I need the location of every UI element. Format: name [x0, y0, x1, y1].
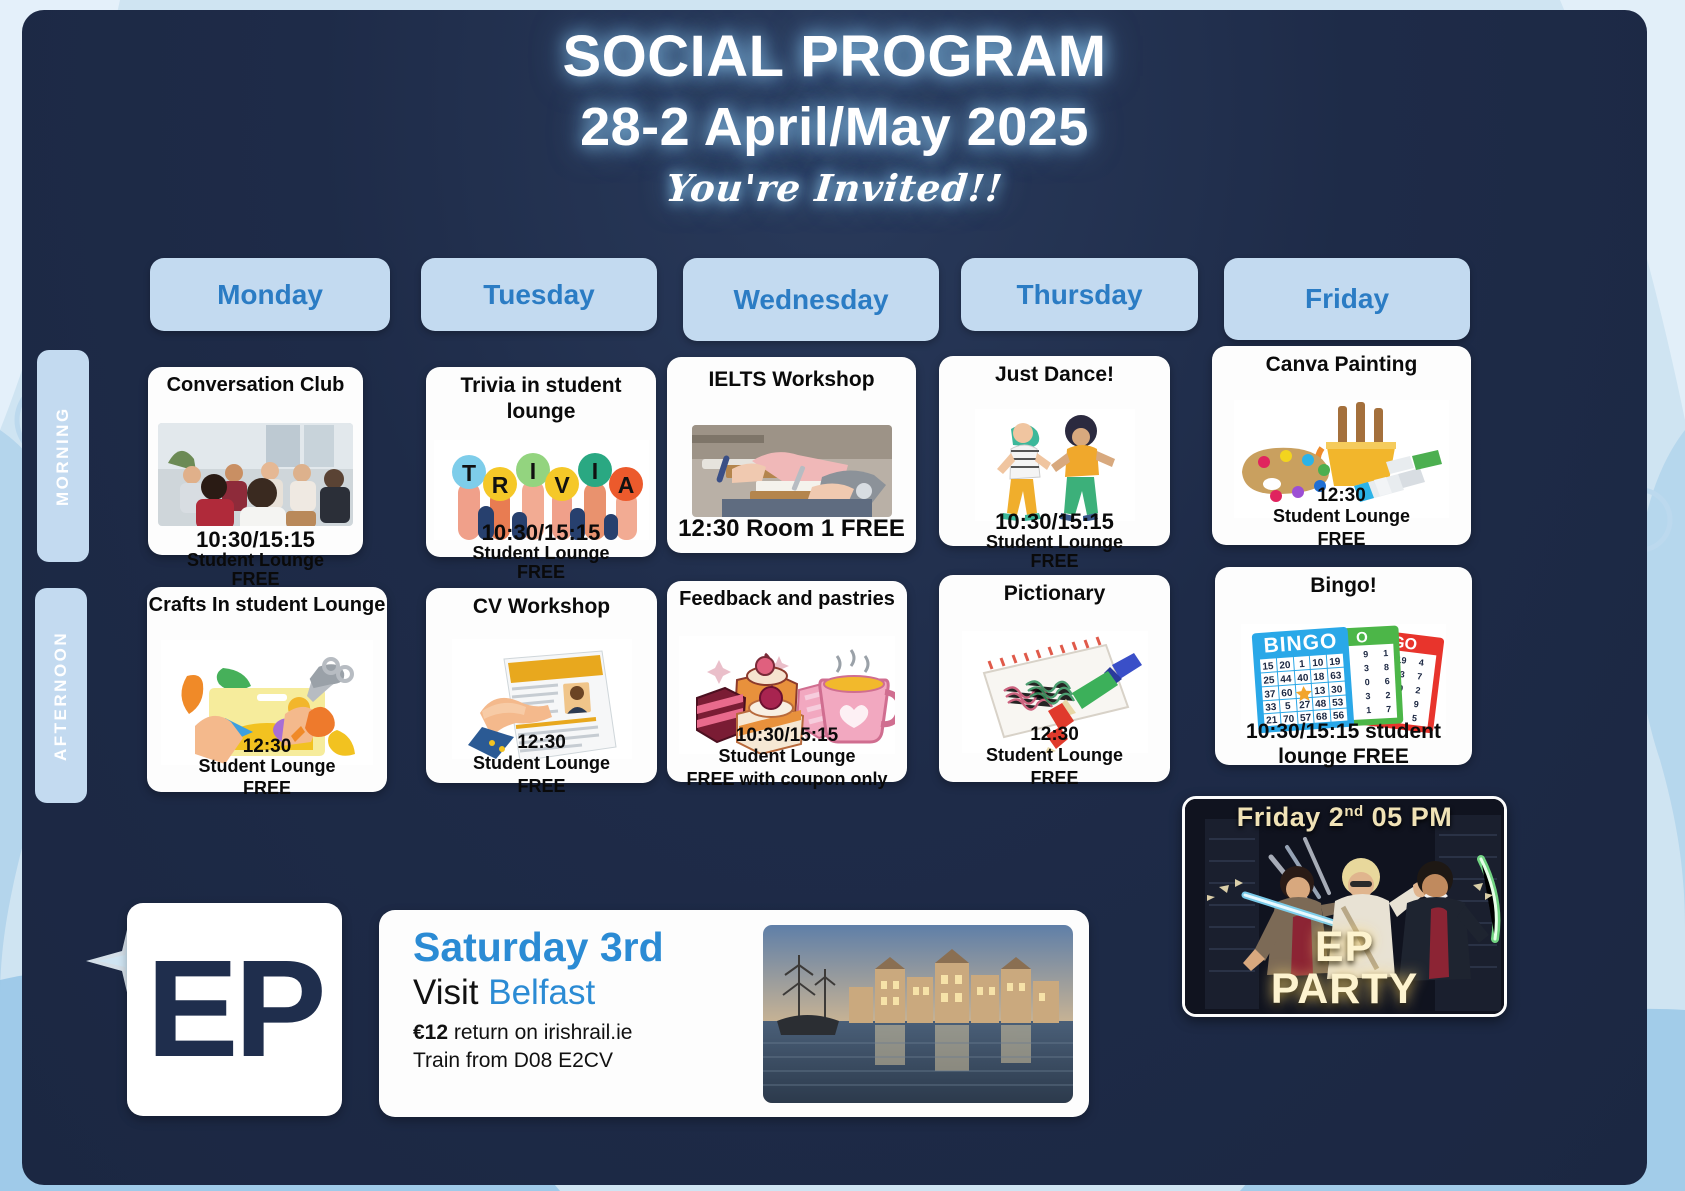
svg-text:1: 1: [1366, 705, 1372, 715]
activity-price: FREE: [148, 570, 363, 588]
svg-text:6: 6: [1384, 676, 1390, 686]
activity-time: 10:30/15:15 student lounge FREE: [1223, 720, 1464, 770]
svg-text:T: T: [461, 460, 475, 486]
activity-price: FREE with coupon only: [667, 768, 907, 791]
date-range: 28-2 April/May 2025: [22, 91, 1647, 164]
activity-location: Student Lounge: [939, 533, 1170, 551]
activity-title: Conversation Club: [167, 373, 345, 397]
svg-text:48: 48: [1315, 698, 1327, 710]
photo-students-writing-icon: [692, 425, 892, 517]
activity-card-friday-afternoon[interactable]: Bingo! GO 10194 18637 13302 48539 68565: [1215, 567, 1472, 765]
activity-price: FREE: [1212, 528, 1471, 551]
activity-location: Student Lounge: [426, 544, 656, 562]
activity-details: 10:30/15:15 Student Lounge FREE: [148, 529, 363, 588]
activity-title: CV Workshop: [473, 594, 610, 620]
svg-text:I: I: [529, 458, 535, 484]
activity-details: 10:30/15:15 Student Lounge FREE: [426, 522, 656, 581]
activity-card-friday-morning[interactable]: Canva Painting: [1212, 346, 1471, 545]
invitation-text: You're Invited!!: [22, 166, 1647, 210]
svg-text:27: 27: [1299, 699, 1311, 711]
activity-card-thursday-morning[interactable]: Just Dance!: [939, 356, 1170, 546]
poster-header: SOCIAL PROGRAM 28-2 April/May 2025 You'r…: [22, 10, 1647, 210]
activity-details: 10:30/15:15 Student Lounge FREE with cou…: [667, 726, 907, 790]
svg-text:O: O: [1356, 629, 1369, 647]
svg-text:A: A: [617, 472, 634, 498]
activity-card-monday-morning[interactable]: Conversation Club 10:30/15:15 Student Lo…: [148, 367, 363, 555]
svg-text:15: 15: [1262, 661, 1274, 673]
activity-details: 12:30 Student Lounge FREE: [1212, 486, 1471, 550]
day-label: Thursday: [1016, 279, 1142, 311]
activity-details: 12:30 Student Lounge FREE: [147, 737, 387, 800]
saturday-destination: Visit Belfast: [413, 971, 763, 1015]
svg-text:19: 19: [1329, 656, 1341, 668]
activity-details: 12:30 Student Lounge FREE: [426, 733, 657, 797]
section-label-morning: MORNING: [37, 350, 89, 562]
section-label-text: MORNING: [53, 406, 73, 506]
svg-text:63: 63: [1330, 670, 1342, 682]
ep-logo-text: EP: [146, 954, 322, 1064]
svg-text:30: 30: [1331, 684, 1343, 696]
svg-text:9: 9: [1363, 649, 1369, 659]
activity-price: FREE: [147, 778, 387, 800]
activity-price: FREE: [426, 775, 657, 798]
activity-details: 10:30/15:15 student lounge FREE: [1215, 720, 1472, 770]
svg-text:33: 33: [1265, 702, 1277, 714]
party-time: 05 PM: [1364, 802, 1453, 832]
activity-details: 12:30 Student Lounge FREE: [939, 725, 1170, 789]
bingo-cards-icon: GO 10194 18637 13302 48539 68565 O 1991: [1241, 624, 1446, 736]
price-detail: return on irishrail.ie: [448, 1021, 632, 1044]
page-title: SOCIAL PROGRAM: [22, 24, 1647, 91]
svg-text:20: 20: [1279, 660, 1291, 672]
poster-panel: SOCIAL PROGRAM 28-2 April/May 2025 You'r…: [22, 10, 1647, 1185]
svg-text:8: 8: [1384, 662, 1390, 672]
activity-location: Student Lounge: [147, 756, 387, 778]
activity-card-tuesday-afternoon[interactable]: CV Workshop: [426, 588, 657, 783]
ep-party-title: EP PARTY: [1185, 927, 1504, 1010]
saturday-trip-text: Saturday 3rd Visit Belfast €12 return on…: [395, 924, 763, 1103]
activity-price: FREE: [939, 767, 1170, 790]
svg-text:60: 60: [1281, 688, 1293, 700]
visit-prefix: Visit: [413, 973, 488, 1012]
party-title-line1: EP: [1185, 927, 1504, 968]
activity-time: 10:30/15:15: [667, 726, 907, 745]
svg-text:V: V: [554, 472, 570, 498]
ep-logo-tile: EP: [127, 903, 342, 1116]
activity-location: Student Lounge: [1212, 505, 1471, 528]
city-name: Belfast: [488, 973, 595, 1012]
activity-title: Trivia in student lounge: [430, 373, 652, 424]
day-label: Wednesday: [733, 284, 888, 316]
day-header-thursday[interactable]: Thursday: [961, 258, 1198, 331]
svg-text:3: 3: [1365, 691, 1371, 701]
price-amount: €12: [413, 1021, 448, 1044]
ep-party-datetime: Friday 2nd 05 PM: [1185, 802, 1504, 833]
saturday-price: €12 return on irishrail.ie: [413, 1019, 763, 1047]
activity-time: 12:30: [1212, 486, 1471, 505]
svg-text:53: 53: [1332, 697, 1344, 709]
activity-title: Canva Painting: [1266, 352, 1418, 378]
activity-time: 12:30 Room 1 FREE: [667, 517, 916, 541]
activity-card-wednesday-afternoon[interactable]: Feedback and pastries: [667, 581, 907, 782]
day-header-row: Monday Tuesday Wednesday Thursday Friday: [150, 258, 1480, 340]
activity-title: Pictionary: [1004, 581, 1106, 607]
svg-text:I: I: [591, 458, 597, 484]
belfast-photo: [763, 925, 1073, 1103]
activity-card-thursday-afternoon[interactable]: Pictionary: [939, 575, 1170, 782]
activity-title: IELTS Workshop: [708, 367, 874, 393]
activity-location: Student Lounge: [939, 744, 1170, 767]
svg-text:2: 2: [1385, 690, 1391, 700]
photo-discussion-circle-icon: [158, 423, 353, 526]
activity-details: 10:30/15:15 Student Lounge FREE: [939, 511, 1170, 570]
activity-time: 12:30: [426, 733, 657, 752]
dancing-figures-icon: [975, 409, 1135, 521]
svg-text:10: 10: [1312, 657, 1324, 669]
saturday-trip-banner[interactable]: Saturday 3rd Visit Belfast €12 return on…: [379, 910, 1089, 1117]
party-day: Friday 2: [1237, 802, 1345, 832]
svg-text:R: R: [491, 472, 508, 498]
activity-title: Crafts In student Lounge: [149, 593, 386, 617]
activity-location: Student Lounge: [667, 745, 907, 768]
activity-location: Student Lounge: [426, 752, 657, 775]
activity-time: 10:30/15:15: [426, 522, 656, 544]
day-label: Friday: [1305, 283, 1389, 315]
svg-text:44: 44: [1280, 674, 1292, 686]
activity-time: 12:30: [147, 737, 387, 756]
activity-time: 10:30/15:15: [939, 511, 1170, 533]
svg-text:40: 40: [1297, 672, 1309, 684]
activity-title: Just Dance!: [995, 362, 1114, 388]
day-header-tuesday[interactable]: Tuesday: [421, 258, 657, 331]
ep-party-poster[interactable]: Friday 2nd 05 PM EP PARTY: [1182, 796, 1507, 1017]
activity-location: Student Lounge: [148, 551, 363, 569]
day-header-monday[interactable]: Monday: [150, 258, 390, 331]
day-header-friday[interactable]: Friday: [1224, 258, 1470, 340]
section-label-text: AFTERNOON: [51, 630, 71, 760]
activity-title: Bingo!: [1310, 573, 1376, 599]
section-label-afternoon: AFTERNOON: [35, 588, 87, 803]
activity-time: 10:30/15:15: [148, 529, 363, 551]
saturday-train-info: Train from D08 E2CV: [413, 1047, 763, 1075]
day-header-wednesday[interactable]: Wednesday: [683, 258, 939, 341]
activity-card-tuesday-morning[interactable]: Trivia in student lounge T: [426, 367, 656, 557]
activity-details: 12:30 Room 1 FREE: [667, 517, 916, 541]
svg-text:25: 25: [1263, 675, 1275, 687]
day-label: Tuesday: [483, 279, 595, 311]
svg-text:1: 1: [1383, 648, 1389, 658]
day-label: Monday: [217, 279, 323, 311]
activity-price: FREE: [426, 563, 656, 581]
activity-title: Feedback and pastries: [679, 587, 895, 611]
belfast-waterfront-icon: [763, 925, 1073, 1103]
party-title-line2: PARTY: [1185, 969, 1504, 1010]
activity-card-monday-afternoon[interactable]: Crafts In student Lounge: [147, 587, 387, 792]
svg-text:18: 18: [1313, 671, 1325, 683]
svg-text:37: 37: [1264, 689, 1276, 701]
activity-price: FREE: [939, 552, 1170, 570]
party-ordinal: nd: [1344, 803, 1363, 820]
svg-text:7: 7: [1386, 704, 1392, 714]
activity-card-wednesday-morning[interactable]: IELTS Workshop 12:30 Room 1 FR: [667, 357, 916, 553]
svg-text:0: 0: [1364, 677, 1370, 687]
activity-time: 12:30: [939, 725, 1170, 744]
saturday-date: Saturday 3rd: [413, 924, 763, 971]
svg-text:3: 3: [1364, 663, 1370, 673]
svg-text:13: 13: [1314, 685, 1326, 697]
